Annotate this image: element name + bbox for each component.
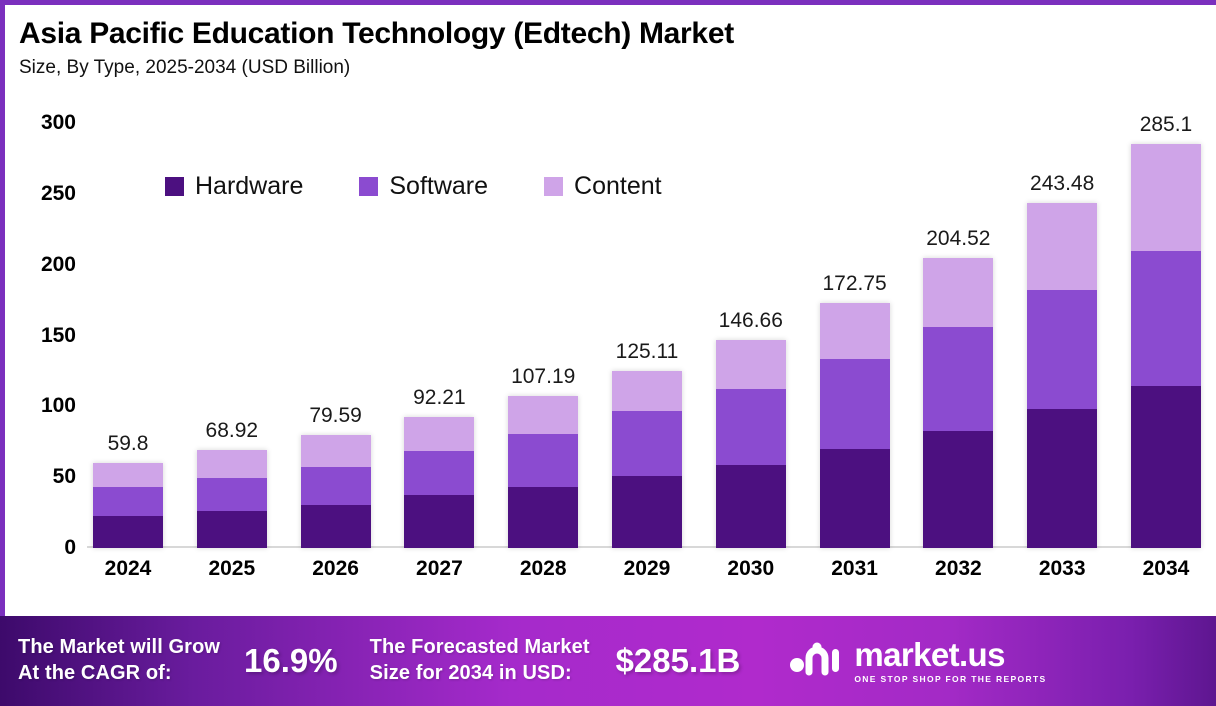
y-tick-0: 0 (6, 536, 76, 560)
bar-stack-2031 (820, 303, 890, 548)
bar-column-2033[interactable]: 243.48 (1027, 123, 1097, 548)
page-subtitle: Size, By Type, 2025-2034 (USD Billion) (19, 57, 1216, 79)
logo-tagline: ONE STOP SHOP FOR THE REPORTS (854, 674, 1046, 684)
x-tick-2032: 2032 (923, 557, 993, 581)
bar-segment-content-2027[interactable] (404, 417, 474, 450)
bar-segment-software-2024[interactable] (93, 487, 163, 516)
bar-value-label-2024: 59.8 (108, 432, 149, 456)
x-tick-2028: 2028 (508, 557, 578, 581)
bar-value-label-2029: 125.11 (616, 340, 679, 364)
logo-mark-icon (788, 638, 844, 685)
bar-column-2024[interactable]: 59.8 (93, 123, 163, 548)
bar-column-2026[interactable]: 79.59 (301, 123, 371, 548)
y-tick-50: 50 (6, 465, 76, 489)
bar-segment-content-2029[interactable] (612, 371, 682, 412)
bar-segment-software-2028[interactable] (508, 434, 578, 487)
forecast-label-line2: Size for 2034 in USD: (370, 661, 590, 687)
bar-segment-content-2024[interactable] (93, 463, 163, 487)
bar-column-2027[interactable]: 92.21 (404, 123, 474, 548)
forecast-value: $285.1B (616, 642, 741, 680)
cagr-value: 16.9% (244, 642, 338, 680)
bar-stack-2026 (301, 435, 371, 548)
y-tick-100: 100 (6, 394, 76, 418)
bar-segment-hardware-2026[interactable] (301, 505, 371, 548)
bar-segment-content-2032[interactable] (923, 258, 993, 327)
bar-column-2030[interactable]: 146.66 (716, 123, 786, 548)
forecast-label-line1: The Forecasted Market (370, 635, 590, 661)
bar-segment-hardware-2025[interactable] (197, 511, 267, 548)
bar-group: 59.868.9279.5992.21107.19125.11146.66172… (93, 123, 1201, 548)
bar-segment-software-2025[interactable] (197, 478, 267, 511)
x-tick-2024: 2024 (93, 557, 163, 581)
bar-segment-hardware-2024[interactable] (93, 516, 163, 548)
bar-stack-2034 (1131, 144, 1201, 548)
bar-segment-content-2033[interactable] (1027, 203, 1097, 290)
bar-segment-hardware-2030[interactable] (716, 465, 786, 548)
bar-segment-content-2030[interactable] (716, 340, 786, 388)
bar-segment-software-2034[interactable] (1131, 251, 1201, 386)
bar-value-label-2030: 146.66 (719, 309, 783, 333)
bar-segment-software-2032[interactable] (923, 327, 993, 431)
bar-stack-2033 (1027, 203, 1097, 548)
bar-column-2025[interactable]: 68.92 (197, 123, 267, 548)
x-tick-2031: 2031 (820, 557, 890, 581)
bar-column-2028[interactable]: 107.19 (508, 123, 578, 548)
header: Asia Pacific Education Technology (Edtec… (5, 5, 1216, 79)
logo-text: market.us ONE STOP SHOP FOR THE REPORTS (854, 638, 1046, 684)
x-tick-2034: 2034 (1131, 557, 1201, 581)
bar-segment-hardware-2034[interactable] (1131, 386, 1201, 548)
bar-stack-2029 (612, 371, 682, 548)
logo-name: market.us (854, 638, 1046, 671)
bar-stack-2032 (923, 258, 993, 548)
bar-stack-2027 (404, 417, 474, 548)
x-axis-labels: 2024202520262027202820292030203120322033… (93, 557, 1201, 581)
bar-segment-software-2030[interactable] (716, 389, 786, 466)
bar-stack-2030 (716, 340, 786, 548)
x-tick-2026: 2026 (301, 557, 371, 581)
bar-segment-content-2028[interactable] (508, 396, 578, 434)
market-us-logo[interactable]: market.us ONE STOP SHOP FOR THE REPORTS (788, 638, 1046, 685)
bar-value-label-2027: 92.21 (413, 386, 466, 410)
cagr-label-line2: At the CAGR of: (18, 661, 220, 687)
x-tick-2029: 2029 (612, 557, 682, 581)
bar-column-2032[interactable]: 204.52 (923, 123, 993, 548)
infographic-root: Asia Pacific Education Technology (Edtec… (0, 0, 1216, 706)
bar-segment-software-2027[interactable] (404, 451, 474, 495)
x-tick-2030: 2030 (716, 557, 786, 581)
bar-value-label-2032: 204.52 (926, 227, 990, 251)
x-tick-2025: 2025 (197, 557, 267, 581)
chart-container: Hardware Software Content 05010015020025… (5, 105, 1216, 613)
bar-value-label-2028: 107.19 (511, 365, 575, 389)
bar-column-2029[interactable]: 125.11 (612, 123, 682, 548)
bar-column-2034[interactable]: 285.1 (1131, 123, 1201, 548)
footer-banner: The Market will Grow At the CAGR of: 16.… (0, 616, 1216, 706)
y-tick-250: 250 (6, 182, 76, 206)
bar-segment-hardware-2029[interactable] (612, 476, 682, 548)
bar-segment-content-2025[interactable] (197, 450, 267, 477)
bar-value-label-2025: 68.92 (206, 419, 259, 443)
bar-segment-software-2031[interactable] (820, 359, 890, 449)
cagr-label-line1: The Market will Grow (18, 635, 220, 661)
bar-segment-content-2034[interactable] (1131, 144, 1201, 251)
x-tick-2027: 2027 (404, 557, 474, 581)
bar-stack-2028 (508, 396, 578, 548)
bar-segment-software-2029[interactable] (612, 411, 682, 476)
plot-area: 050100150200250300 59.868.9279.5992.2110… (93, 123, 1201, 548)
bar-value-label-2031: 172.75 (822, 272, 886, 296)
x-tick-2033: 2033 (1027, 557, 1097, 581)
cagr-block: The Market will Grow At the CAGR of: 16.… (0, 635, 338, 686)
y-tick-200: 200 (6, 253, 76, 277)
forecast-label: The Forecasted Market Size for 2034 in U… (370, 635, 590, 686)
forecast-block: The Forecasted Market Size for 2034 in U… (338, 635, 741, 686)
bar-value-label-2026: 79.59 (309, 404, 362, 428)
bar-segment-software-2033[interactable] (1027, 290, 1097, 409)
y-tick-150: 150 (6, 324, 76, 348)
cagr-label: The Market will Grow At the CAGR of: (18, 635, 220, 686)
bar-segment-software-2026[interactable] (301, 467, 371, 506)
bar-value-label-2034: 285.1 (1140, 113, 1193, 137)
bar-value-label-2033: 243.48 (1030, 172, 1094, 196)
bar-segment-content-2031[interactable] (820, 303, 890, 359)
bar-segment-hardware-2027[interactable] (404, 495, 474, 548)
bar-segment-content-2026[interactable] (301, 435, 371, 466)
bar-segment-hardware-2032[interactable] (923, 431, 993, 548)
bar-segment-hardware-2033[interactable] (1027, 409, 1097, 548)
bar-segment-hardware-2031[interactable] (820, 449, 890, 548)
bar-segment-hardware-2028[interactable] (508, 487, 578, 548)
page-title: Asia Pacific Education Technology (Edtec… (19, 15, 1216, 53)
y-tick-300: 300 (6, 111, 76, 135)
bar-stack-2025 (197, 450, 267, 548)
bar-column-2031[interactable]: 172.75 (820, 123, 890, 548)
bar-stack-2024 (93, 463, 163, 548)
